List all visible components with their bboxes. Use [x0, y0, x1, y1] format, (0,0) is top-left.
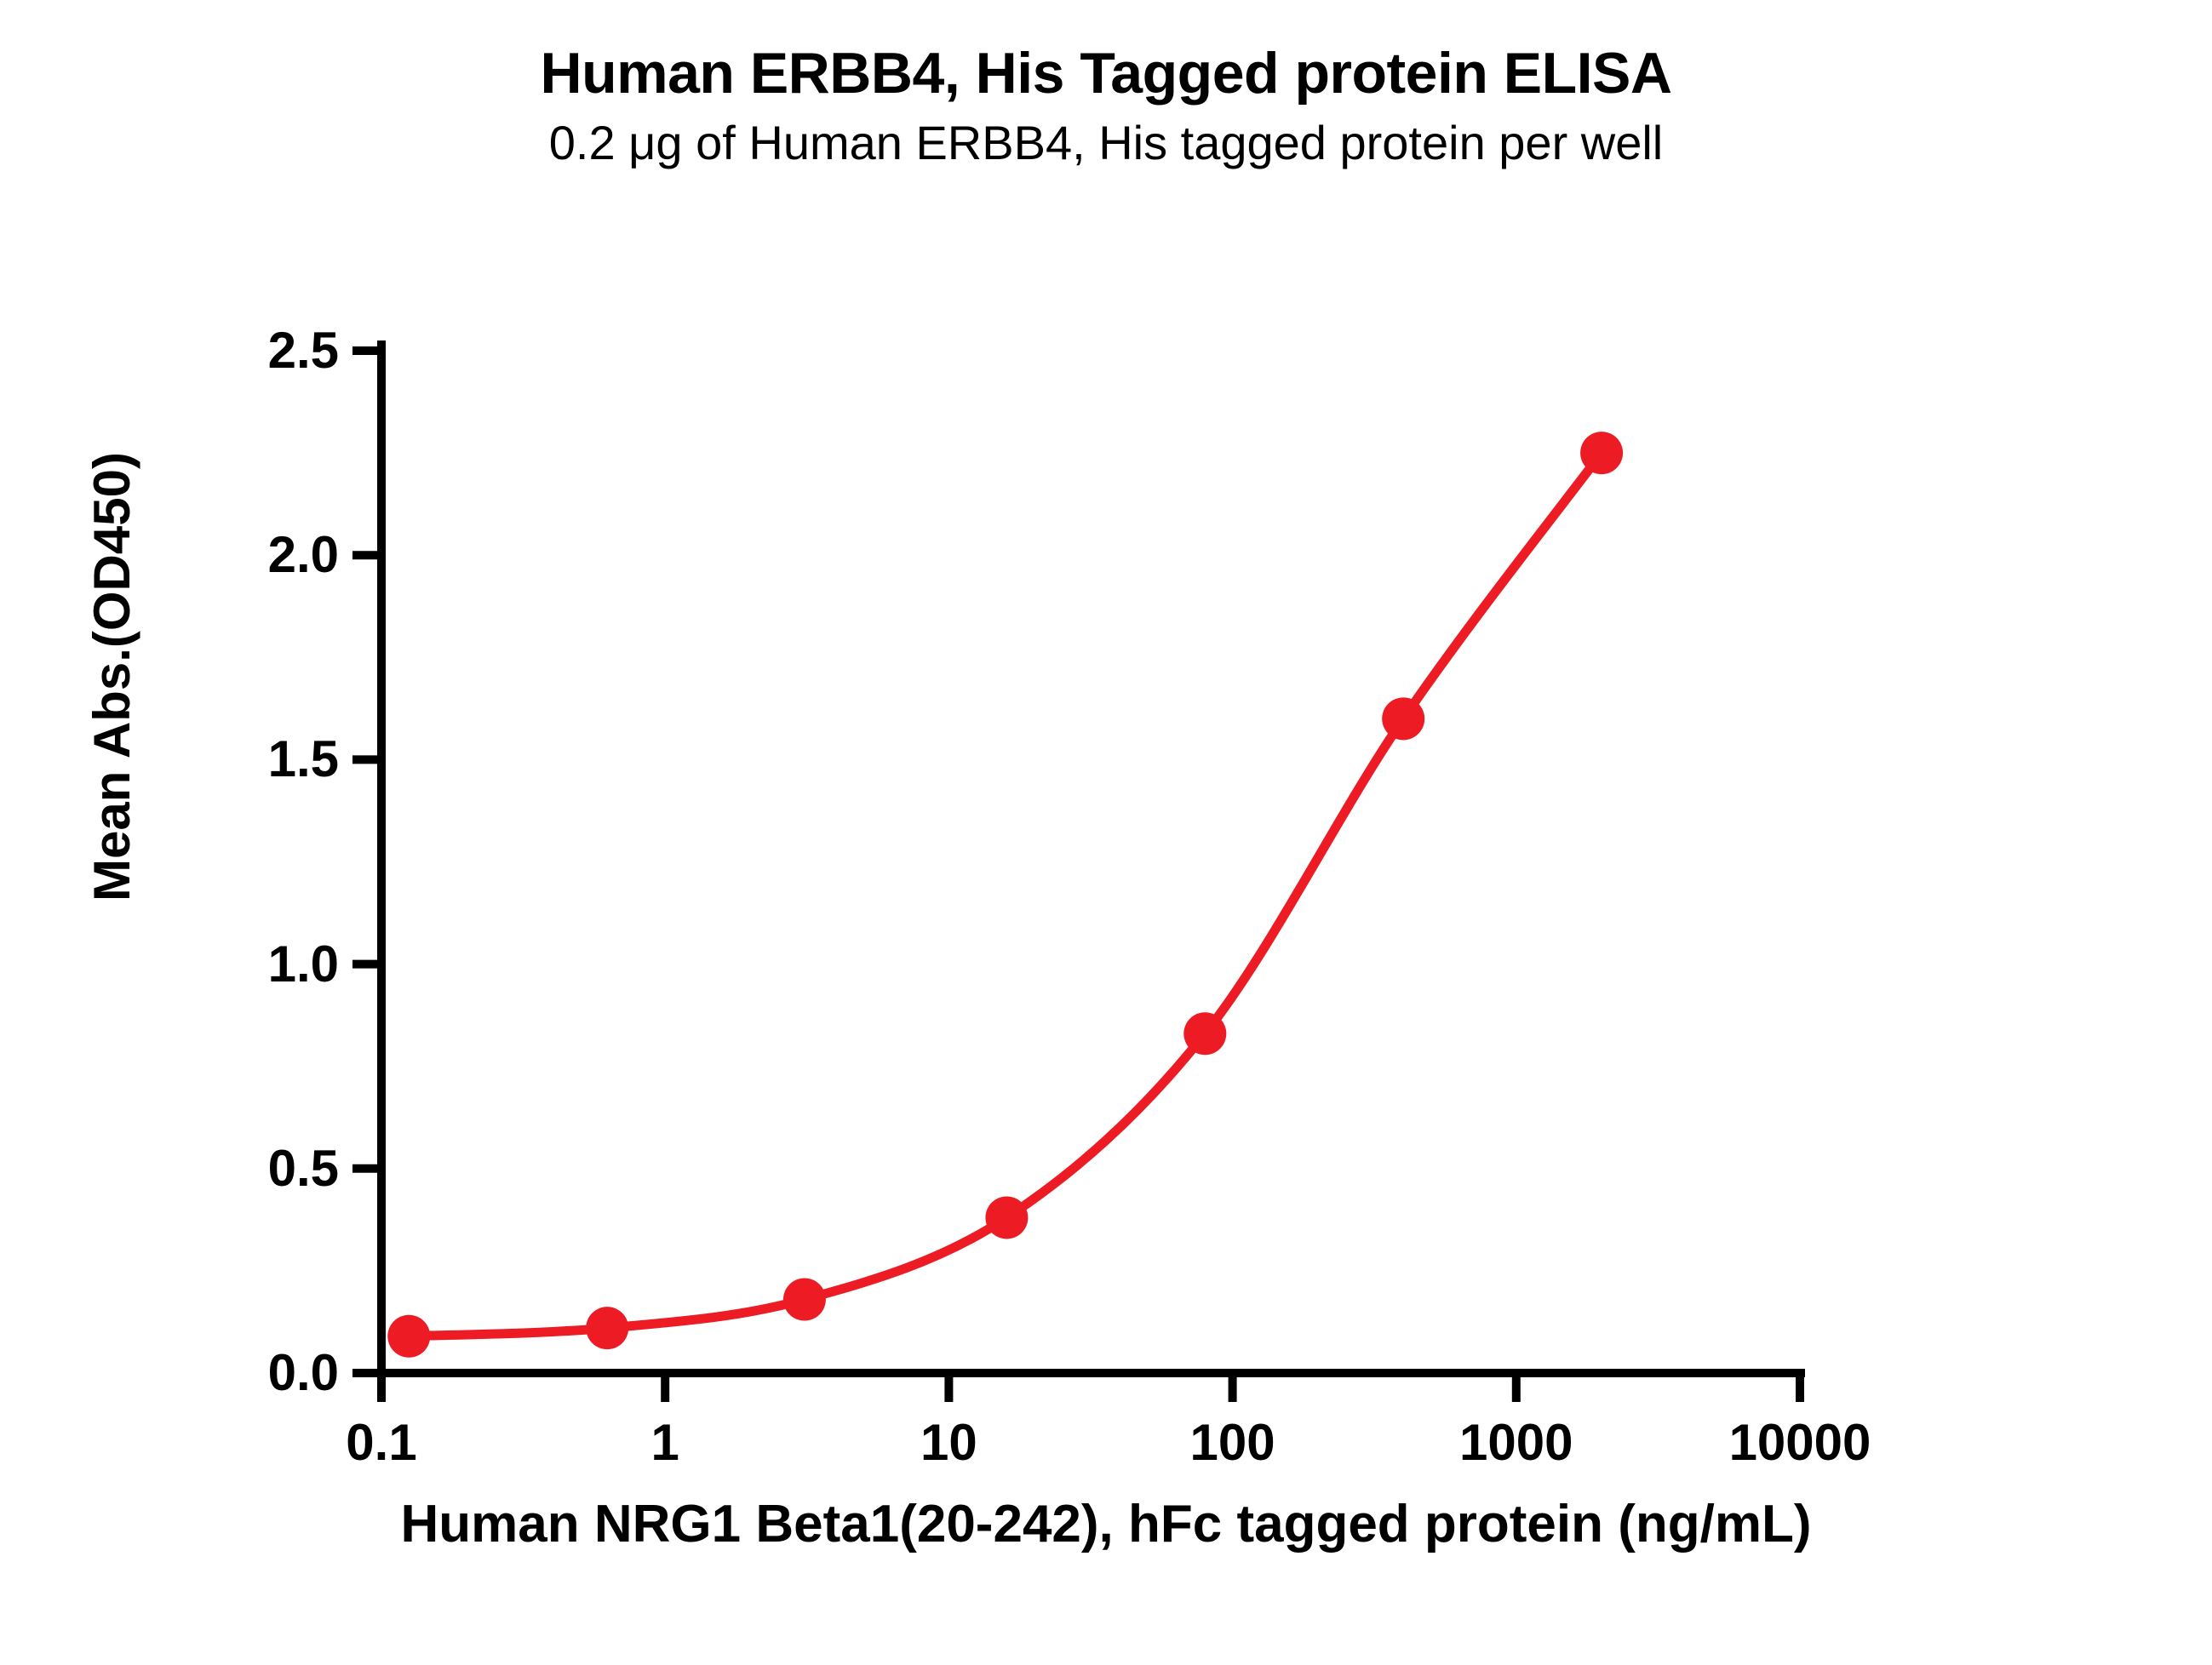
- chart-canvas: Human ERBB4, His Tagged protein ELISA 0.…: [0, 0, 2212, 1665]
- data-point-0: [387, 1315, 430, 1358]
- x-tick-label-3: 100: [1105, 1417, 1361, 1468]
- axis-ticks: [352, 351, 1800, 1402]
- y-tick-label-1: 0.5: [169, 1143, 339, 1194]
- x-tick-label-4: 1000: [1389, 1417, 1644, 1468]
- data-points: [387, 432, 1623, 1358]
- data-point-1: [586, 1307, 628, 1349]
- x-tick-label-5: 10000: [1672, 1417, 1928, 1468]
- x-tick-label-0: 0.1: [254, 1417, 509, 1468]
- y-tick-label-0: 0.0: [169, 1347, 339, 1399]
- y-tick-label-2: 1.0: [169, 939, 339, 990]
- data-point-3: [985, 1196, 1028, 1239]
- plot-area: [0, 0, 2212, 1665]
- x-tick-label-1: 1: [537, 1417, 793, 1468]
- x-tick-label-2: 10: [821, 1417, 1076, 1468]
- axes: [377, 340, 1805, 1373]
- y-tick-label-5: 2.5: [169, 325, 339, 376]
- data-point-5: [1382, 697, 1424, 740]
- data-point-4: [1183, 1012, 1226, 1055]
- data-point-2: [783, 1279, 826, 1321]
- data-point-6: [1580, 432, 1623, 474]
- y-tick-label-3: 1.5: [169, 734, 339, 785]
- y-tick-label-4: 2.0: [169, 529, 339, 581]
